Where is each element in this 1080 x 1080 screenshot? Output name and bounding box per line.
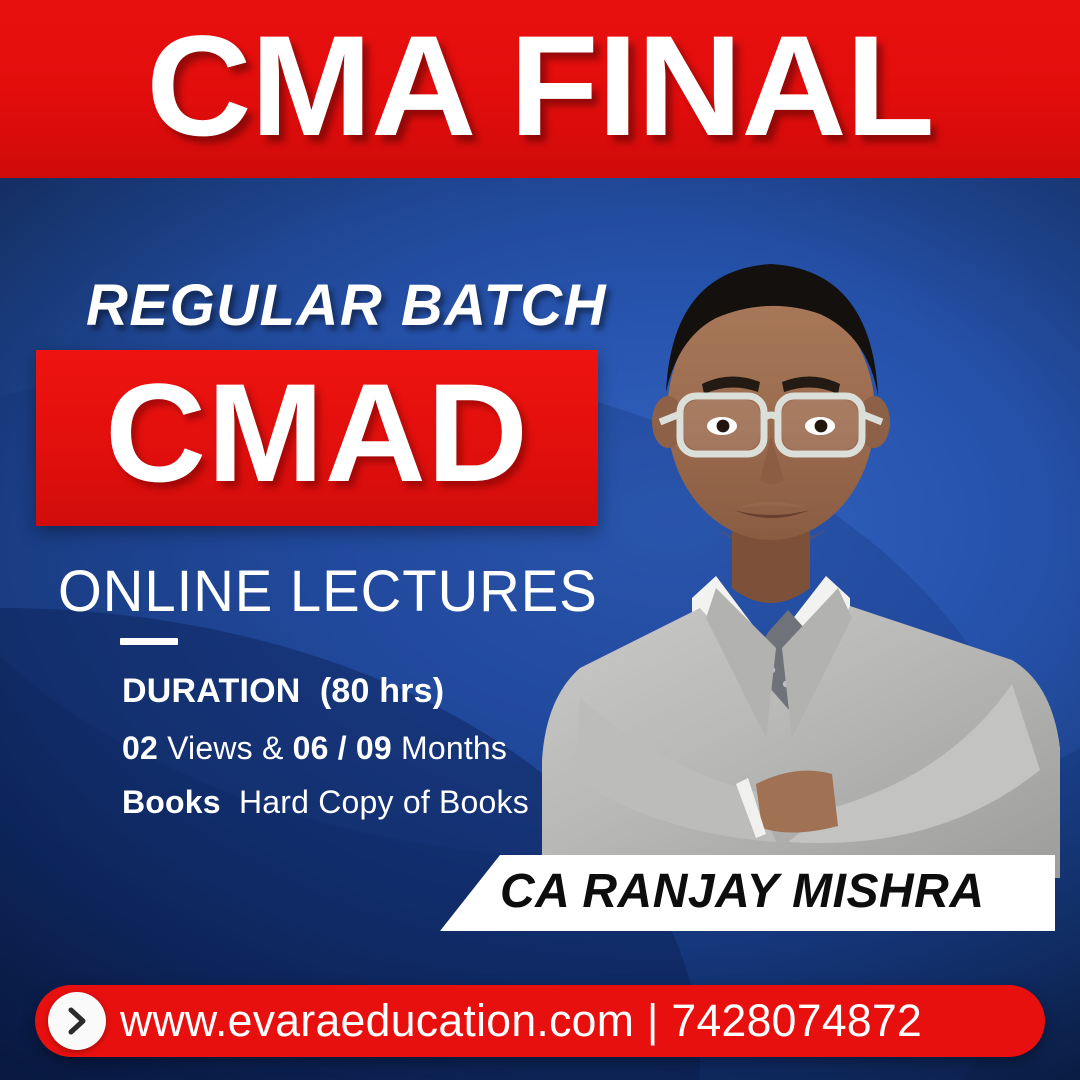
instructor-name: CA RANJAY MISHRA xyxy=(500,855,1050,931)
divider-dash xyxy=(120,638,178,645)
subject-code-label: CMAD xyxy=(105,363,529,513)
books-label: Books xyxy=(122,784,221,820)
views-word: Views & xyxy=(167,730,283,766)
header-band: CMA FINAL xyxy=(0,0,1080,178)
detail-duration: DURATION (80 hrs) xyxy=(122,672,444,711)
chevron-right-glyph xyxy=(64,1006,90,1036)
books-value: Hard Copy of Books xyxy=(239,784,529,820)
detail-views-months: 02 Views & 06 / 09 Months xyxy=(122,730,507,767)
detail-books: Books Hard Copy of Books xyxy=(122,784,529,821)
course-mode-label: ONLINE LECTURES xyxy=(58,558,598,625)
subject-code-box: CMAD xyxy=(36,350,598,526)
views-count: 02 xyxy=(122,730,158,766)
months-word: Months xyxy=(401,730,507,766)
chevron-right-icon[interactable] xyxy=(48,992,106,1050)
batch-type-label: REGULAR BATCH xyxy=(86,272,607,339)
promo-poster: CMA FINAL xyxy=(0,0,1080,1080)
duration-label: DURATION xyxy=(122,672,301,710)
months-value: 06 / 09 xyxy=(293,730,392,766)
footer-contact-text: www.evaraeducation.com | 7428074872 xyxy=(120,985,1021,1057)
page-title: CMA FINAL xyxy=(0,0,1080,178)
duration-value: (80 hrs) xyxy=(320,672,444,710)
